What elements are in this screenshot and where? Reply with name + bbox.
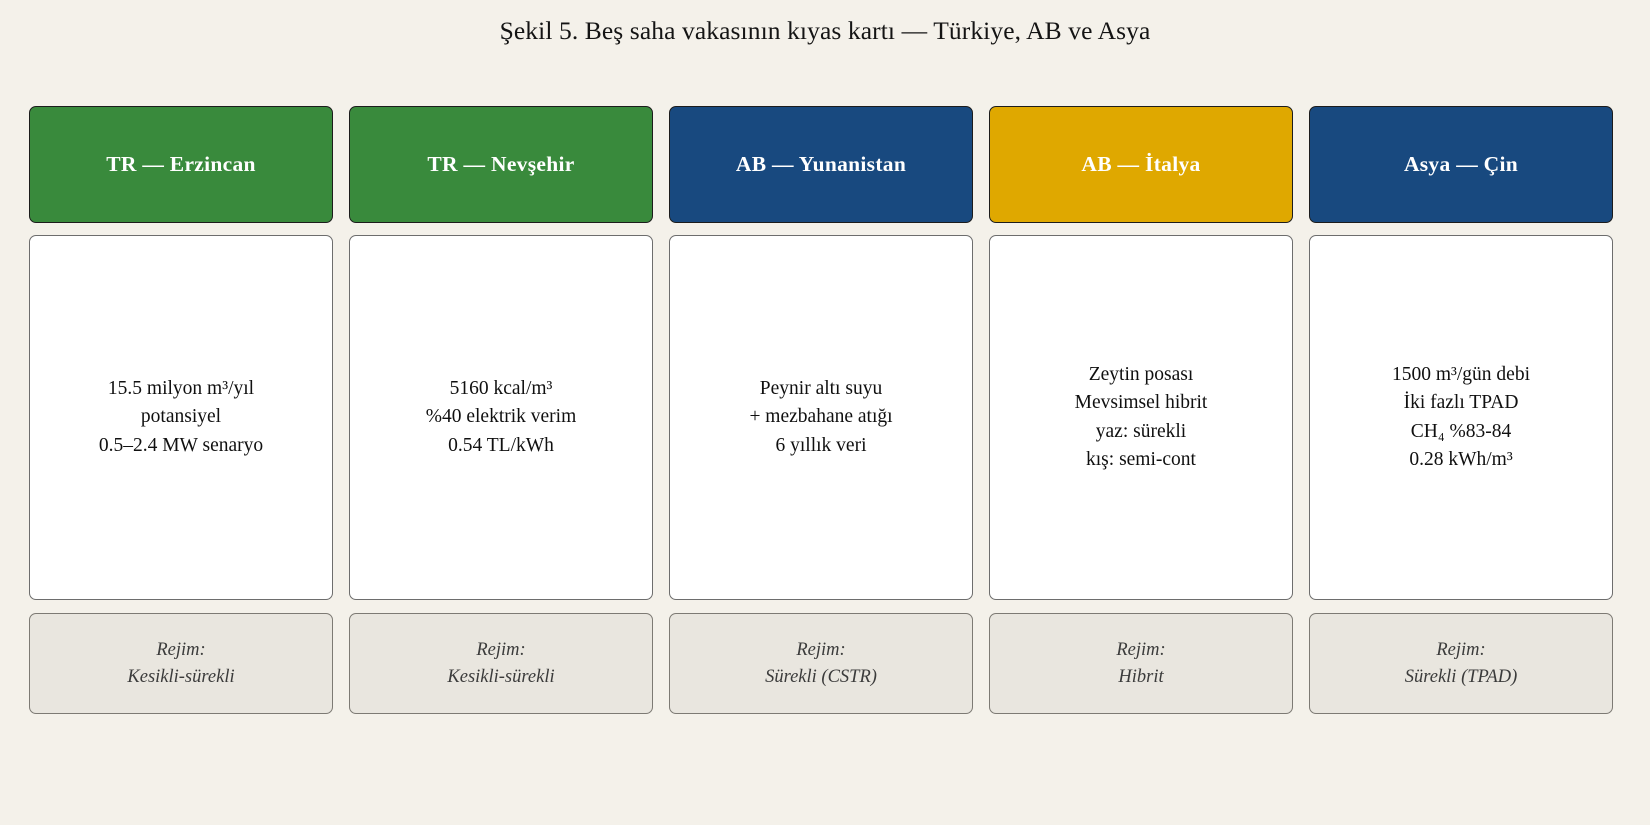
case-card-header[interactable]: TR — Erzincan [29,106,333,223]
case-body-line: Zeytin posası [1089,361,1194,389]
case-footer-value: Hibrit [1118,664,1163,691]
case-card-erzincan: TR — Erzincan 15.5 milyon m³/yıl potansi… [29,106,333,714]
case-body-line: yaz: sürekli [1096,418,1186,446]
case-footer-value: Sürekli (CSTR) [765,664,877,691]
case-footer-label: Rejim: [476,637,525,664]
case-card-footer: Rejim: Hibrit [989,613,1293,714]
figure-title: Şekil 5. Beş saha vakasının kıyas kartı … [0,16,1650,46]
case-body-line: %40 elektrik verim [426,403,577,431]
case-card-footer: Rejim: Kesikli-sürekli [349,613,653,714]
case-body-line: 0.54 TL/kWh [448,432,554,460]
case-card-body: 1500 m³/gün debi İki fazlı TPAD CH₄ %83-… [1309,235,1613,600]
case-card-body: Peynir altı suyu + mezbahane atığı 6 yıl… [669,235,973,600]
case-card-header[interactable]: AB — İtalya [989,106,1293,223]
case-footer-value: Kesikli-sürekli [447,664,554,691]
case-footer-label: Rejim: [796,637,845,664]
case-body-line: 6 yıllık veri [776,432,867,460]
case-body-line: İki fazlı TPAD [1404,389,1519,417]
case-card-nevsehir: TR — Nevşehir 5160 kcal/m³ %40 elektrik … [349,106,653,714]
case-body-line: Peynir altı suyu [760,375,882,403]
case-body-line: 5160 kcal/m³ [450,375,553,403]
case-footer-value: Kesikli-sürekli [127,664,234,691]
figure-container: Şekil 5. Beş saha vakasının kıyas kartı … [0,0,1650,825]
case-footer-label: Rejim: [1436,637,1485,664]
case-footer-label: Rejim: [156,637,205,664]
case-card-header[interactable]: Asya — Çin [1309,106,1613,223]
case-body-line: kış: semi-cont [1086,446,1196,474]
case-card-grid: TR — Erzincan 15.5 milyon m³/yıl potansi… [29,106,1621,714]
case-card-cin: Asya — Çin 1500 m³/gün debi İki fazlı TP… [1309,106,1613,714]
case-card-italya: AB — İtalya Zeytin posası Mevsimsel hibr… [989,106,1293,714]
case-body-line: CH₄ %83-84 [1411,418,1512,446]
case-body-line: potansiyel [141,403,221,431]
case-body-line: 0.28 kWh/m³ [1409,446,1512,474]
case-body-line: 1500 m³/gün debi [1392,361,1530,389]
case-footer-label: Rejim: [1116,637,1165,664]
case-body-line: + mezbahane atığı [749,403,892,431]
case-card-footer: Rejim: Kesikli-sürekli [29,613,333,714]
case-body-line: 0.5–2.4 MW senaryo [99,432,263,460]
case-card-footer: Rejim: Sürekli (CSTR) [669,613,973,714]
case-card-body: 15.5 milyon m³/yıl potansiyel 0.5–2.4 MW… [29,235,333,600]
case-body-line: 15.5 milyon m³/yıl [108,375,254,403]
case-card-body: 5160 kcal/m³ %40 elektrik verim 0.54 TL/… [349,235,653,600]
case-footer-value: Sürekli (TPAD) [1405,664,1518,691]
case-card-header[interactable]: TR — Nevşehir [349,106,653,223]
case-body-line: Mevsimsel hibrit [1075,389,1208,417]
case-card-body: Zeytin posası Mevsimsel hibrit yaz: süre… [989,235,1293,600]
case-card-footer: Rejim: Sürekli (TPAD) [1309,613,1613,714]
case-card-yunanistan: AB — Yunanistan Peynir altı suyu + mezba… [669,106,973,714]
case-card-header[interactable]: AB — Yunanistan [669,106,973,223]
